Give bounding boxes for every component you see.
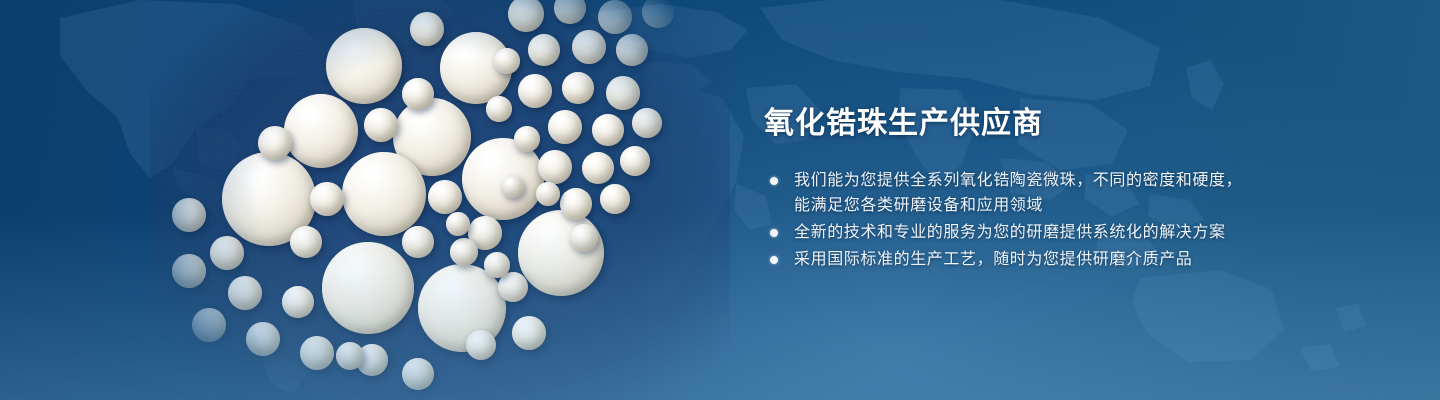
bead [172,254,206,288]
banner-copy: 氧化锆珠生产供应商 我们能为您提供全系列氧化锆陶瓷微珠，不同的密度和硬度， 能满… [764,104,1384,274]
bead [364,108,398,142]
bead [282,286,314,318]
bead [446,212,470,236]
bead [466,330,496,360]
bead [606,76,640,110]
bead [494,48,520,74]
bead [402,358,434,390]
bead [560,188,592,220]
bead [528,34,560,66]
bead [410,12,444,46]
bead [598,0,632,34]
bead [616,34,648,66]
bead [192,308,226,342]
feature-bullet-list: 我们能为您提供全系列氧化锆陶瓷微珠，不同的密度和硬度， 能满足您各类研磨设备和应… [764,168,1384,272]
bead [246,322,280,356]
bead [572,30,606,64]
bead [258,126,292,160]
bead [536,182,560,206]
bead [326,28,402,104]
bead [570,224,598,252]
bead [428,180,462,214]
bead [310,182,344,216]
bead [582,152,614,184]
bullet-dot-icon [770,177,778,185]
bullet-text-line1: 采用国际标准的生产工艺，随时为您提供研磨介质产品 [794,251,1192,268]
bead [322,242,414,334]
bead [620,146,650,176]
list-item: 全新的技术和专业的服务为您的研磨提供系统化的解决方案 [764,220,1384,245]
bead [172,198,206,232]
bead [600,184,630,214]
bead [514,126,540,152]
list-item: 采用国际标准的生产工艺，随时为您提供研磨介质产品 [764,247,1384,272]
bead [562,72,594,104]
bead [228,276,262,310]
bead [548,110,582,144]
bead [300,336,334,370]
bead [518,74,552,108]
bead [402,78,434,110]
bead [486,96,512,122]
hero-banner: 氧化锆珠生产供应商 我们能为您提供全系列氧化锆陶瓷微珠，不同的密度和硬度， 能满… [0,0,1440,400]
bead [512,316,546,350]
page-title: 氧化锆珠生产供应商 [764,104,1384,144]
bead [284,94,358,168]
bead [484,252,510,278]
list-item: 我们能为您提供全系列氧化锆陶瓷微珠，不同的密度和硬度， 能满足您各类研磨设备和应… [764,168,1384,218]
bead [290,226,322,258]
bead [632,108,662,138]
bead [502,176,524,198]
bullet-text-line2: 能满足您各类研磨设备和应用领域 [794,193,1384,218]
bullet-dot-icon [770,256,778,264]
bead [210,236,244,270]
bead [402,226,434,258]
bullet-dot-icon [770,229,778,237]
bead [336,342,364,370]
zirconia-beads-photo [150,0,730,400]
bead [518,210,604,296]
bead [538,150,572,184]
bullet-text-line1: 我们能为您提供全系列氧化锆陶瓷微珠，不同的密度和硬度， [794,172,1242,189]
bead [450,238,478,266]
bead [342,152,426,236]
bead [592,114,624,146]
bullet-text-line1: 全新的技术和专业的服务为您的研磨提供系统化的解决方案 [794,224,1226,241]
